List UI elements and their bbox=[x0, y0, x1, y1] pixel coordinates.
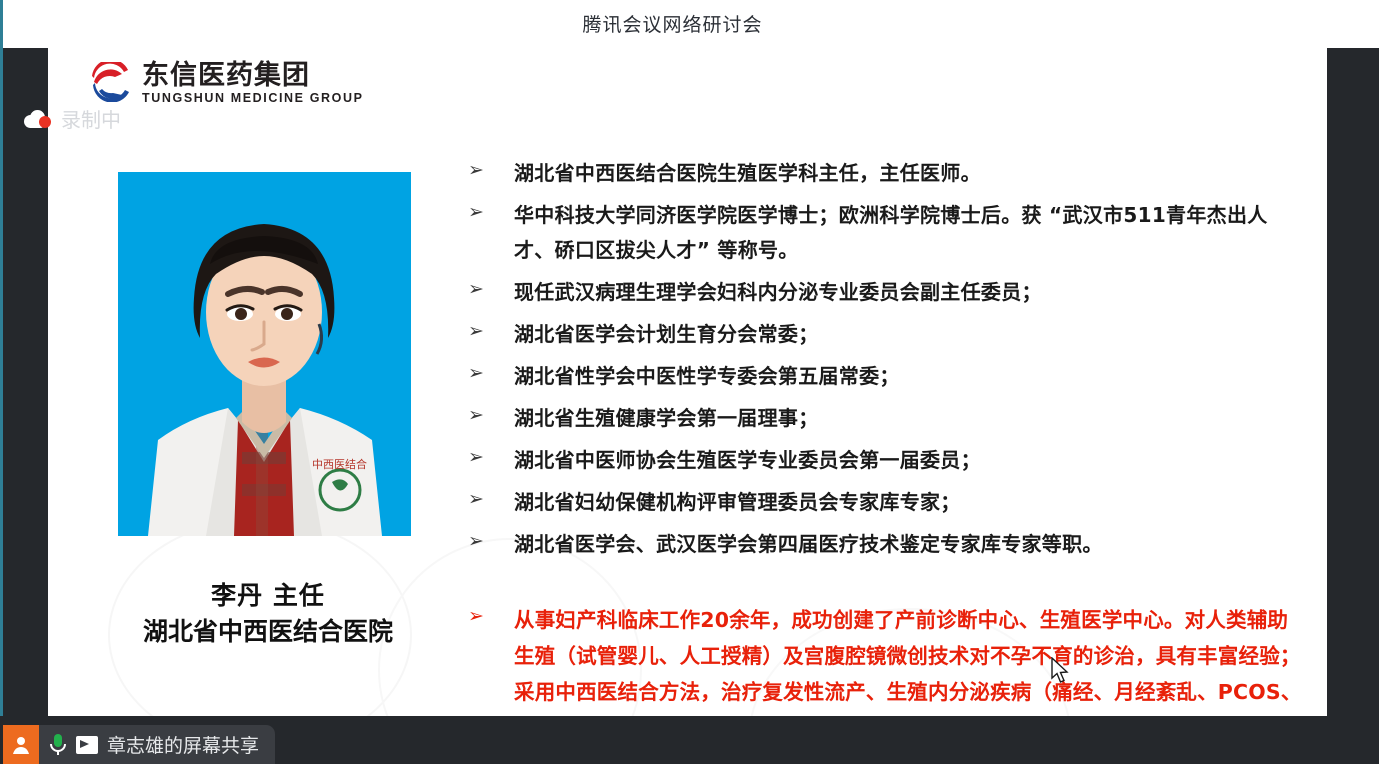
speaker-caption: 李丹 主任 湖北省中西医结合医院 bbox=[68, 578, 468, 651]
bullet-arrow-icon: ➢ bbox=[468, 602, 514, 630]
list-item-text: 湖北省医学会计划生育分会常委； bbox=[514, 317, 1308, 352]
shared-slide: 东信医药集团 TUNGSHUN MEDICINE GROUP bbox=[48, 48, 1327, 716]
recording-indicator: 录制中 bbox=[24, 104, 121, 133]
meeting-top-bar: 腾讯会议网络研讨会 bbox=[0, 0, 1379, 48]
list-item: ➢ 湖北省医学会计划生育分会常委； bbox=[468, 317, 1308, 352]
list-item-text: 湖北省中医师协会生殖医学专业委员会第一届委员； bbox=[514, 443, 1308, 478]
list-item: ➢ 湖北省医学会、武汉医学会第四届医疗技术鉴定专家库专家等职。 bbox=[468, 527, 1308, 562]
speaker-affiliation: 湖北省中西医结合医院 bbox=[68, 614, 468, 650]
speaker-name: 李丹 主任 bbox=[68, 578, 468, 614]
bullet-arrow-icon: ➢ bbox=[468, 156, 514, 184]
list-item-text: 湖北省中西医结合医院生殖医学科主任，主任医师。 bbox=[514, 156, 1308, 191]
list-item: ➢ 湖北省性学会中医性学专委会第五届常委； bbox=[468, 359, 1308, 394]
bullet-arrow-icon: ➢ bbox=[468, 359, 514, 387]
bullet-arrow-icon: ➢ bbox=[468, 443, 514, 471]
list-item: ➢ 湖北省中西医结合医院生殖医学科主任，主任医师。 bbox=[468, 156, 1308, 191]
tungshun-swoosh-logo-icon bbox=[88, 62, 134, 102]
bullet-arrow-icon: ➢ bbox=[468, 275, 514, 303]
highlight-item: ➢ 从事妇产科临床工作20余年，成功创建了产前诊断中心、生殖医学中心。对人类辅助… bbox=[468, 602, 1308, 716]
highlight-item-text: 从事妇产科临床工作20余年，成功创建了产前诊断中心、生殖医学中心。对人类辅助生殖… bbox=[514, 602, 1308, 716]
list-item-text: 湖北省医学会、武汉医学会第四届医疗技术鉴定专家库专家等职。 bbox=[514, 527, 1308, 562]
person-icon bbox=[11, 735, 31, 755]
participant-avatar-button[interactable] bbox=[3, 725, 39, 764]
bullet-arrow-icon: ➢ bbox=[468, 401, 514, 429]
bullet-arrow-icon: ➢ bbox=[468, 198, 514, 226]
screen-share-status-bar[interactable]: 章志雄的屏幕共享 bbox=[39, 725, 275, 764]
credentials-list: ➢ 湖北省中西医结合医院生殖医学科主任，主任医师。 ➢ 华中科技大学同济医学院医… bbox=[468, 156, 1308, 716]
cloud-record-icon bbox=[24, 109, 54, 129]
speaker-portrait-photo: 中西医结合 bbox=[118, 172, 411, 536]
list-item: ➢ 湖北省妇幼保健机构评审管理委员会专家库专家； bbox=[468, 485, 1308, 520]
company-logo: 东信医药集团 TUNGSHUN MEDICINE GROUP bbox=[88, 62, 364, 105]
bullet-arrow-icon: ➢ bbox=[468, 317, 514, 345]
bullet-arrow-icon: ➢ bbox=[468, 485, 514, 513]
screen-share-icon bbox=[76, 736, 98, 754]
meeting-title: 腾讯会议网络研讨会 bbox=[0, 10, 1362, 37]
share-owner-label: 章志雄的屏幕共享 bbox=[107, 731, 259, 758]
list-item: ➢ 现任武汉病理生理学会妇科内分泌专业委员会副主任委员； bbox=[468, 275, 1308, 310]
list-item: ➢ 华中科技大学同济医学院医学博士；欧洲科学院博士后。获 “武汉市511青年杰出… bbox=[468, 198, 1308, 268]
logo-wordmark: 东信医药集团 TUNGSHUN MEDICINE GROUP bbox=[142, 62, 364, 105]
microphone-icon[interactable] bbox=[49, 733, 67, 757]
logo-chinese-name: 东信医药集团 bbox=[142, 62, 364, 90]
bullet-arrow-icon: ➢ bbox=[468, 527, 514, 555]
svg-text:中西医结合: 中西医结合 bbox=[312, 457, 367, 471]
list-item: ➢ 湖北省中医师协会生殖医学专业委员会第一届委员； bbox=[468, 443, 1308, 478]
list-item: ➢ 湖北省生殖健康学会第一届理事； bbox=[468, 401, 1308, 436]
list-item-text: 华中科技大学同济医学院医学博士；欧洲科学院博士后。获 “武汉市511青年杰出人才… bbox=[514, 198, 1308, 268]
list-item-text: 湖北省生殖健康学会第一届理事； bbox=[514, 401, 1308, 436]
list-item-text: 现任武汉病理生理学会妇科内分泌专业委员会副主任委员； bbox=[514, 275, 1308, 310]
arrow-cursor bbox=[1050, 657, 1070, 690]
list-item-text: 湖北省性学会中医性学专委会第五届常委； bbox=[514, 359, 1308, 394]
recording-label: 录制中 bbox=[61, 104, 121, 133]
list-item-text: 湖北省妇幼保健机构评审管理委员会专家库专家； bbox=[514, 485, 1308, 520]
logo-english-name: TUNGSHUN MEDICINE GROUP bbox=[142, 91, 364, 105]
